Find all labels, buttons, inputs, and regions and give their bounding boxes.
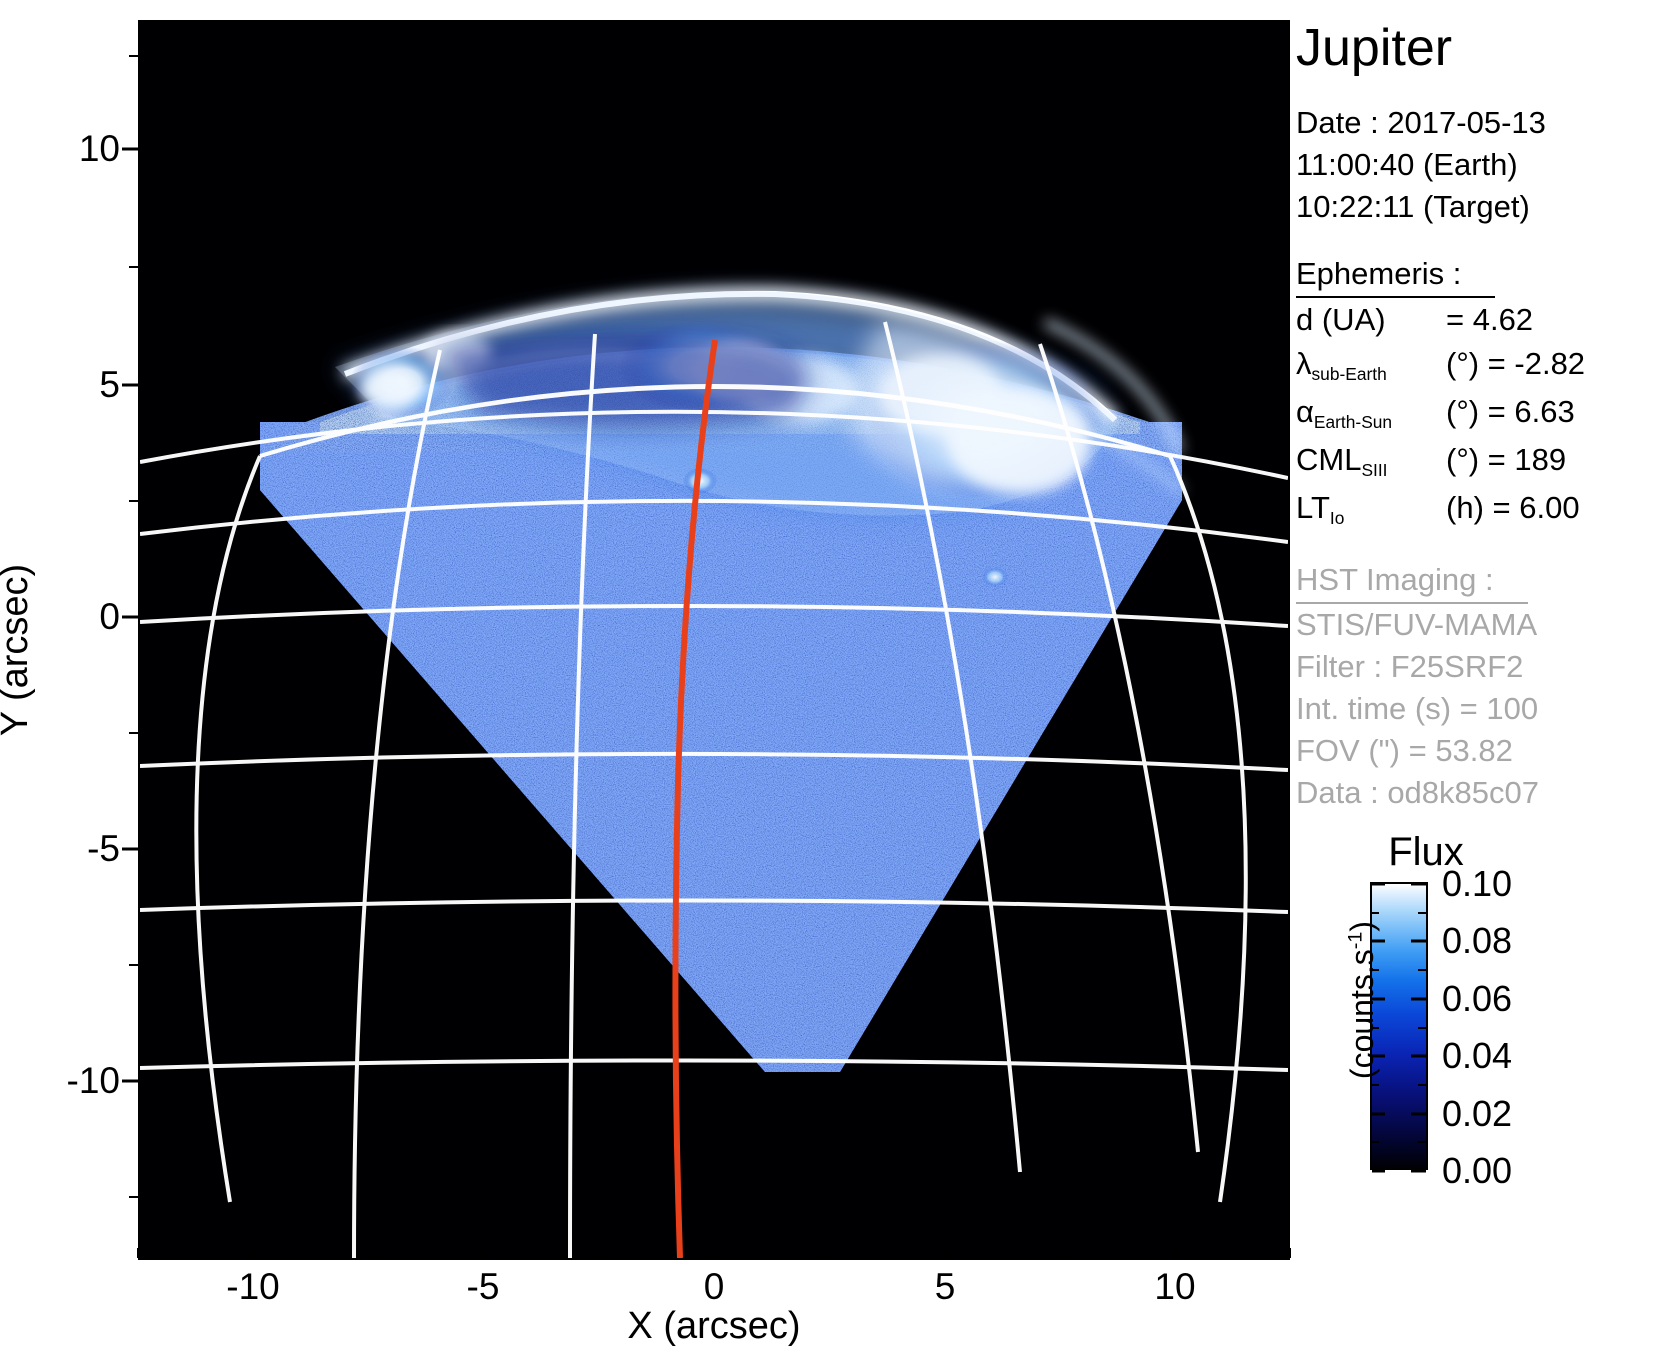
ephemeris-row-io-local-time: LTIo (h) = 6.00 xyxy=(1296,486,1676,534)
observation-time-earth: 11:00:40 (Earth) xyxy=(1296,144,1676,186)
ephemeris-value: = 4.62 xyxy=(1446,298,1533,342)
y-tick-mark xyxy=(122,1080,138,1083)
ephemeris-row-phase-angle: αEarth-Sun (°) = 6.63 xyxy=(1296,390,1676,438)
ephemeris-symbol: CML xyxy=(1296,442,1361,477)
y-tick-mark-minor xyxy=(129,732,138,734)
y-tick-mark-minor xyxy=(129,964,138,966)
jupiter-aurora-image-plot xyxy=(138,20,1290,1260)
y-tick-label: 5 xyxy=(99,364,120,406)
colorbar-tick-minor xyxy=(1418,1141,1426,1143)
ephemeris-unit: (°) xyxy=(1446,390,1479,434)
y-tick-mark xyxy=(122,848,138,851)
x-tick-mark-minor xyxy=(1059,1248,1061,1258)
ephemeris-unit: (h) xyxy=(1446,486,1484,530)
colorbar-tick xyxy=(1411,940,1426,943)
x-tick-mark xyxy=(944,1240,947,1258)
ephemeris-row-distance: d (UA) = 4.62 xyxy=(1296,298,1676,342)
observation-datetime-block: Date : 2017-05-13 11:00:40 (Earth) 10:22… xyxy=(1296,102,1676,228)
instrument-heading: HST Imaging : xyxy=(1296,560,1528,604)
observation-info-panel: Jupiter Date : 2017-05-13 11:00:40 (Eart… xyxy=(1296,0,1676,820)
ephemeris-unit: (°) xyxy=(1446,342,1479,386)
aurora-image-svg xyxy=(140,22,1288,1258)
ephemeris-symbol: λ xyxy=(1296,346,1312,381)
colorbar-tick-minor xyxy=(1418,912,1426,914)
x-tick-mark-minor xyxy=(137,1248,139,1258)
ephemeris-block: Ephemeris : d (UA) = 4.62 λsub-Earth (°)… xyxy=(1296,254,1676,534)
secondary-bright-spot xyxy=(982,567,1008,587)
x-tick-mark-minor xyxy=(1289,1248,1291,1258)
y-tick-mark xyxy=(122,616,138,619)
instrument-filter: Filter : F25SRF2 xyxy=(1296,646,1676,688)
colorbar-tick-left xyxy=(1372,940,1385,943)
ephemeris-key: λsub-Earth xyxy=(1296,342,1446,390)
x-tick-mark xyxy=(1174,1240,1177,1258)
colorbar-tick-left-minor xyxy=(1372,1084,1379,1086)
instrument-detector: STIS/FUV-MAMA xyxy=(1296,604,1676,646)
ephemeris-value: = 6.00 xyxy=(1493,486,1580,530)
colorbar-tick xyxy=(1411,1055,1426,1058)
instrument-integration-time: Int. time (s) = 100 xyxy=(1296,688,1676,730)
colorbar-tick xyxy=(1411,1113,1426,1116)
ephemeris-row-cml: CMLSIII (°) = 189 xyxy=(1296,438,1676,486)
colorbar-tick-left xyxy=(1372,1055,1385,1058)
colorbar-tick-left xyxy=(1372,1170,1385,1173)
colorbar-tick-label: 0.04 xyxy=(1442,1035,1512,1077)
ephemeris-key: LTIo xyxy=(1296,486,1446,534)
y-tick-mark-minor xyxy=(129,1196,138,1198)
ephemeris-unit: (°) xyxy=(1446,438,1479,482)
ephemeris-value: = -2.82 xyxy=(1488,342,1585,386)
observation-time-target: 10:22:11 (Target) xyxy=(1296,186,1676,228)
colorbar-tick-minor xyxy=(1418,969,1426,971)
ephemeris-heading: Ephemeris : xyxy=(1296,254,1495,298)
colorbar-tick-minor xyxy=(1418,1027,1426,1029)
colorbar-tick-left xyxy=(1372,998,1385,1001)
colorbar-tick-left xyxy=(1372,1113,1385,1116)
instrument-fov: FOV (") = 53.82 xyxy=(1296,730,1676,772)
x-tick-label: 10 xyxy=(1154,1266,1195,1308)
y-tick-label: 0 xyxy=(99,596,120,638)
instrument-dataset-id: Data : od8k85c07 xyxy=(1296,772,1676,814)
colorbar-tick-left-minor xyxy=(1372,969,1379,971)
colorbar-tick-left-minor xyxy=(1372,1141,1379,1143)
x-tick-mark xyxy=(713,1240,716,1258)
colorbar-tick-label: 0.10 xyxy=(1442,863,1512,905)
colorbar-tick-left-minor xyxy=(1372,912,1379,914)
ephemeris-key: αEarth-Sun xyxy=(1296,390,1446,438)
ephemeris-key: CMLSIII xyxy=(1296,438,1446,486)
colorbar-tick xyxy=(1411,883,1426,886)
x-tick-label: -10 xyxy=(226,1266,279,1308)
x-tick-label: -5 xyxy=(467,1266,500,1308)
y-tick-label: -10 xyxy=(67,1060,120,1102)
colorbar-tick-label: 0.02 xyxy=(1442,1093,1512,1135)
ephemeris-row-sub-earth-latitude: λsub-Earth (°) = -2.82 xyxy=(1296,342,1676,390)
ephemeris-subscript: Io xyxy=(1330,508,1344,528)
colorbar-unit-exponent: -1 xyxy=(1344,932,1366,950)
ephemeris-value: = 189 xyxy=(1488,438,1566,482)
x-tick-mark-minor xyxy=(598,1248,600,1258)
ephemeris-key: d (UA) xyxy=(1296,298,1446,342)
ephemeris-subscript: sub-Earth xyxy=(1312,364,1387,384)
y-axis-title: Y (arcsec) xyxy=(0,470,37,830)
colorbar-tick xyxy=(1411,998,1426,1001)
y-tick-mark-minor xyxy=(129,266,138,268)
colorbar-tick-left-minor xyxy=(1372,1027,1379,1029)
y-tick-mark-minor xyxy=(129,500,138,502)
ephemeris-subscript: SIII xyxy=(1361,460,1387,480)
x-axis-title: X (arcsec) xyxy=(138,1305,1290,1348)
ephemeris-subscript: Earth-Sun xyxy=(1314,412,1392,432)
flux-colorbar-group: Flux (counts.s-1) 0.10 0.08 0.06 0.04 0.… xyxy=(1296,830,1676,1230)
x-tick-label: 5 xyxy=(935,1266,956,1308)
ephemeris-symbol: α xyxy=(1296,394,1314,429)
colorbar-unit-close: ) xyxy=(1344,921,1380,932)
x-tick-label: 0 xyxy=(704,1266,725,1308)
x-tick-mark xyxy=(482,1240,485,1258)
x-tick-mark-minor xyxy=(367,1248,369,1258)
x-tick-mark-minor xyxy=(828,1248,830,1258)
ephemeris-value: = 6.63 xyxy=(1488,390,1575,434)
instrument-block: HST Imaging : STIS/FUV-MAMA Filter : F25… xyxy=(1296,560,1676,814)
colorbar-tick-label: 0.08 xyxy=(1442,920,1512,962)
y-tick-mark xyxy=(122,384,138,387)
colorbar-tick-left xyxy=(1372,883,1385,886)
page-title: Jupiter xyxy=(1296,20,1676,76)
plot-canvas xyxy=(140,22,1288,1258)
colorbar-tick-minor xyxy=(1418,1084,1426,1086)
colorbar-tick xyxy=(1411,1170,1426,1173)
y-tick-mark xyxy=(122,148,138,151)
colorbar-tick-label: 0.06 xyxy=(1442,978,1512,1020)
observation-date: Date : 2017-05-13 xyxy=(1296,102,1676,144)
y-tick-mark-minor xyxy=(129,55,138,57)
colorbar-tick-label: 0.00 xyxy=(1442,1150,1512,1192)
ephemeris-symbol: LT xyxy=(1296,490,1330,525)
y-tick-label: 10 xyxy=(79,128,120,170)
y-tick-label: -5 xyxy=(87,828,120,870)
x-tick-mark xyxy=(252,1240,255,1258)
